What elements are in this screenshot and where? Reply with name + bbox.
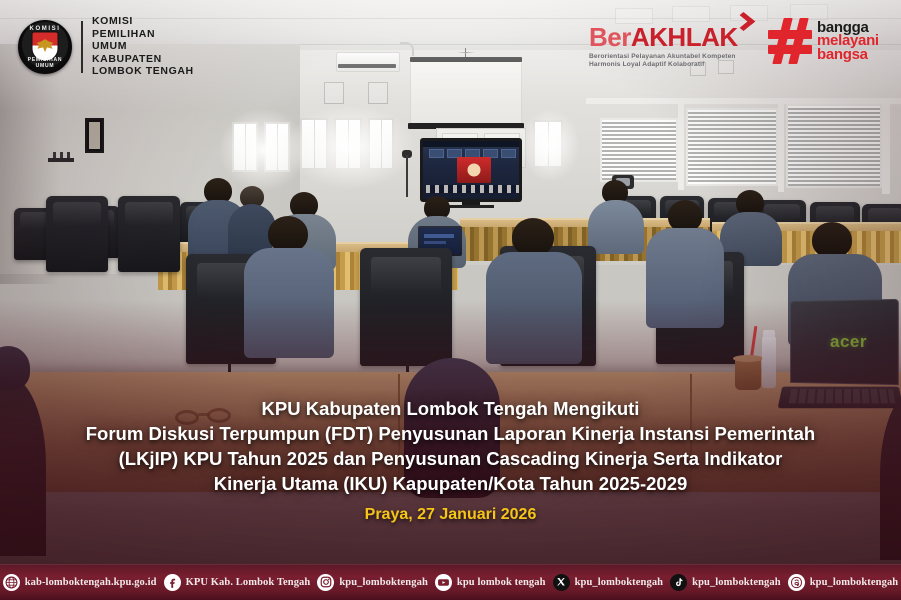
footer-item-website[interactable]: kab-lomboktengah.kpu.go.id — [3, 574, 157, 591]
chair — [360, 248, 452, 366]
footer-item-facebook[interactable]: KPU Kab. Lombok Tengah — [164, 574, 311, 591]
video-call-main-speaker — [457, 157, 491, 183]
window-blinds — [686, 108, 778, 186]
acer-brand-label: acer — [830, 332, 867, 352]
kpu-line-1: KOMISI — [92, 16, 194, 28]
caption-line-1: KPU Kabupaten Lombok Tengah Mengikuti — [28, 396, 873, 421]
caption-date: Praya, 27 Januari 2026 — [28, 506, 873, 524]
caption-line-2: Forum Diskusi Terpumpun (FDT) Penyusunan… — [28, 421, 873, 446]
berakhlak-tagline: Berorientasi Pelayanan Akuntabel Kompete… — [589, 53, 738, 70]
footer-label-instagram: kpu_lomboktengah — [339, 577, 428, 588]
footer-item-instagram[interactable]: kpu_lomboktengah — [317, 574, 428, 591]
chair — [46, 196, 108, 272]
garuda-icon — [37, 39, 54, 52]
footer-label-website: kab-lomboktengah.kpu.go.id — [25, 577, 157, 588]
berakhlak-prefix: Ber — [589, 22, 631, 52]
kpu-line-4: KABUPATEN — [92, 54, 194, 66]
footer-item-youtube[interactable]: kpu lombok tengah — [435, 574, 546, 591]
social-media-footer: kab-lomboktengah.kpu.go.id KPU Kab. Lomb… — [0, 564, 901, 600]
window-blinds — [600, 118, 678, 182]
threads-icon — [788, 574, 805, 591]
kpu-name-lines: KOMISI PEMILIHAN UMUM KABUPATEN LOMBOK T… — [92, 16, 194, 78]
footer-item-threads[interactable]: kpu_lomboktengah — [788, 574, 899, 591]
kpu-line-2: PEMILIHAN — [92, 29, 194, 41]
berakhlak-wordmark: BerAKHLAK — [589, 23, 738, 51]
berakhlak-logo: BerAKHLAK Berorientasi Pelayanan Akuntab… — [589, 23, 738, 70]
bangga-line-3: bangsa — [817, 48, 879, 62]
berakhlak-tagline-line1: Berorientasi Pelayanan Akuntabel Kompete… — [589, 53, 738, 61]
caption-line-4: Kinerja Utama (IKU) Kapupaten/Kota Tahun… — [28, 471, 873, 496]
globe-icon — [3, 574, 20, 591]
kpu-line-5: LOMBOK TENGAH — [92, 66, 194, 78]
poster-canvas: acer KOMISI PEMILIHAN UMUM KOMISI PEMILI… — [0, 0, 901, 600]
water-bottle — [762, 336, 776, 388]
footer-label-threads: kpu_lomboktengah — [810, 577, 899, 588]
youtube-icon — [435, 574, 452, 591]
event-caption: KPU Kabupaten Lombok Tengah Mengikuti Fo… — [0, 396, 901, 524]
footer-label-youtube: kpu lombok tengah — [457, 577, 546, 588]
berakhlak-main: AKHLAK — [631, 22, 738, 52]
caption-line-3: (LKjIP) KPU Tahun 2025 dan Penyusunan Ca… — [28, 446, 873, 471]
footer-label-tiktok: kpu_lomboktengah — [692, 577, 781, 588]
hashtag-icon — [768, 18, 812, 64]
wall-picture-frame — [85, 118, 104, 153]
facebook-icon — [164, 574, 181, 591]
window-blinds — [786, 104, 882, 188]
kpu-logo-icon: KOMISI PEMILIHAN UMUM — [18, 20, 72, 74]
bangga-melayani-bangsa-logo: bangga melayani bangsa — [768, 18, 879, 64]
kpu-divider — [81, 21, 83, 73]
x-icon — [553, 574, 570, 591]
paper-cup — [735, 358, 761, 390]
chair — [118, 196, 180, 272]
instagram-icon — [317, 574, 334, 591]
footer-label-facebook: KPU Kab. Lombok Tengah — [186, 577, 311, 588]
footer-label-x: kpu_lomboktengah — [575, 577, 664, 588]
seal-bottom-text: PEMILIHAN UMUM — [20, 57, 70, 69]
footer-item-x[interactable]: kpu_lomboktengah — [553, 574, 664, 591]
television-display — [420, 138, 522, 202]
tiktok-icon — [670, 574, 687, 591]
footer-item-tiktok[interactable]: kpu_lomboktengah — [670, 574, 781, 591]
kpu-branding: KOMISI PEMILIHAN UMUM KOMISI PEMILIHAN U… — [18, 16, 194, 78]
berakhlak-tagline-line2: Harmonis Loyal Adaptif Kolaboratif — [589, 61, 738, 69]
kpu-line-3: UMUM — [92, 41, 194, 53]
wall-shelf — [48, 158, 74, 162]
poster-header: KOMISI PEMILIHAN UMUM KOMISI PEMILIHAN U… — [0, 0, 901, 95]
